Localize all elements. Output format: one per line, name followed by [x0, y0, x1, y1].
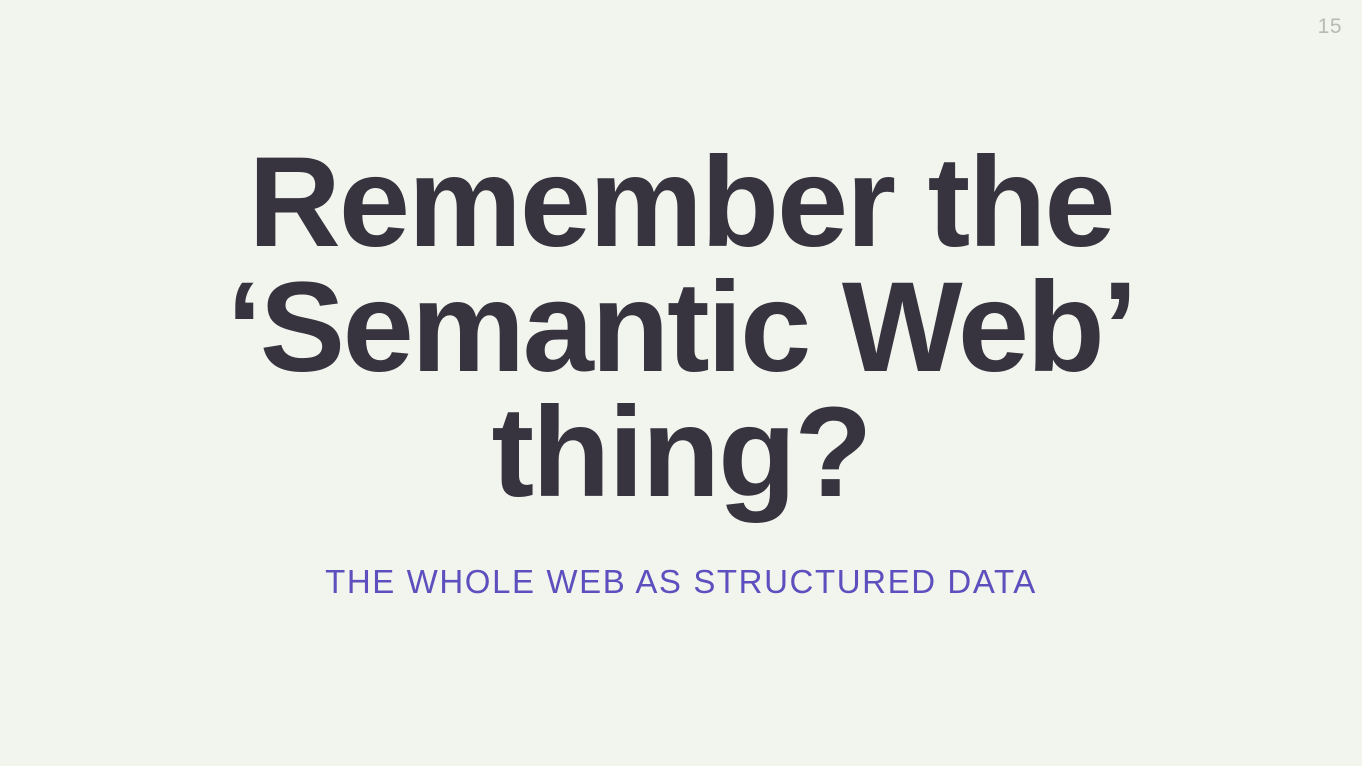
page-title-line-3: thing? — [131, 390, 1231, 515]
page-number: 15 — [1318, 16, 1342, 37]
page-title: Remember the ‘Semantic Web’ thing? — [131, 140, 1231, 515]
page-title-line-2: ‘Semantic Web’ — [131, 265, 1231, 390]
page-subtitle: THE WHOLE WEB AS STRUCTURED DATA — [325, 563, 1037, 601]
slide-canvas: 15 Remember the ‘Semantic Web’ thing? TH… — [0, 0, 1362, 766]
slide-content: Remember the ‘Semantic Web’ thing? THE W… — [0, 140, 1362, 601]
page-title-line-1: Remember the — [131, 140, 1231, 265]
